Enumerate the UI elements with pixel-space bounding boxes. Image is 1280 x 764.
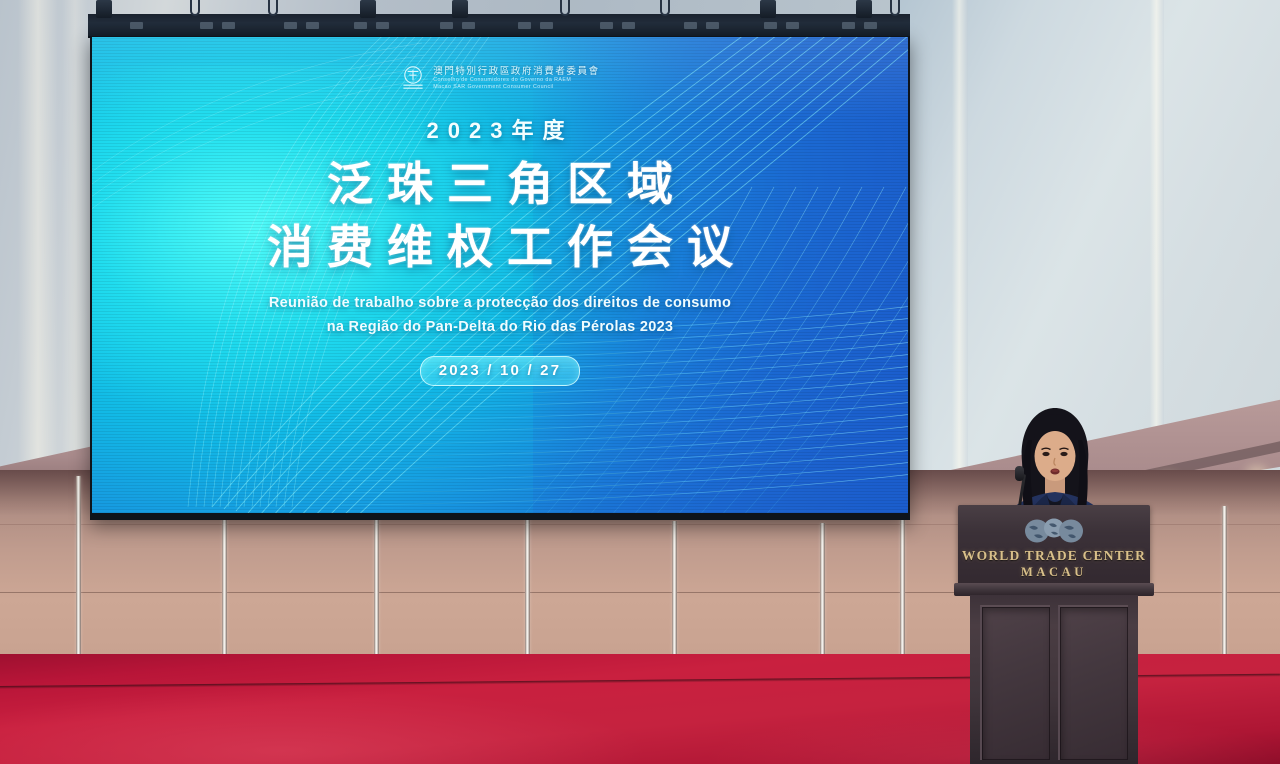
podium-base <box>970 595 1138 764</box>
logo-text-cn: 澳門特別行政區政府消費者委員會 <box>433 66 600 77</box>
podium-recessed-panel <box>1058 605 1128 760</box>
speaker-podium: WORLD TRADE CENTER MACAU <box>958 505 1150 764</box>
truss-clamp <box>96 0 112 18</box>
logo-text-en: Macao SAR Government Consumer Council <box>433 84 600 90</box>
truss-clamp <box>856 0 872 18</box>
truss-hook <box>890 0 900 16</box>
subtitle-line2: na Região do Pan-Delta do Rio das Pérola… <box>327 316 674 340</box>
conference-stage-photo: 澳門特別行政區政府消費者委員會 Conselho de Consumidores… <box>0 0 1280 764</box>
led-screen: 澳門特別行政區政府消費者委員會 Conselho de Consumidores… <box>92 37 908 513</box>
microphone-head <box>1015 466 1024 481</box>
main-title-line1: 泛珠三角区域 <box>313 154 687 215</box>
podium-text-line1: WORLD TRADE CENTER <box>958 548 1150 564</box>
podium-front-face: WORLD TRADE CENTER MACAU <box>958 505 1150 585</box>
year-heading: 2023年度 <box>427 113 574 145</box>
truss-clamp <box>360 0 376 18</box>
truss-clamp <box>452 0 468 18</box>
world-trade-center-globes-emblem-icon <box>1022 518 1086 549</box>
truss-hook <box>560 0 570 16</box>
truss-hook <box>268 0 278 16</box>
event-date-badge: 2023 / 10 / 27 <box>420 356 581 386</box>
right-wall-column <box>952 0 968 470</box>
subtitle-line1: Reunião de trabalho sobre a protecção do… <box>269 292 731 316</box>
truss-hook <box>190 0 200 16</box>
organization-logo: 澳門特別行政區政府消費者委員會 Conselho de Consumidores… <box>400 65 600 91</box>
screen-content: 澳門特別行政區政府消費者委員會 Conselho de Consumidores… <box>92 37 908 513</box>
podium-text-line2: MACAU <box>958 565 1150 580</box>
lighting-truss <box>88 14 910 38</box>
podium-recessed-panel <box>980 605 1050 760</box>
right-wall-column <box>1150 0 1164 470</box>
main-title-line2: 消费维权工作会议 <box>253 217 747 278</box>
consumer-council-emblem-icon <box>400 65 426 91</box>
truss-clamp <box>760 0 776 18</box>
truss-hook <box>660 0 670 16</box>
